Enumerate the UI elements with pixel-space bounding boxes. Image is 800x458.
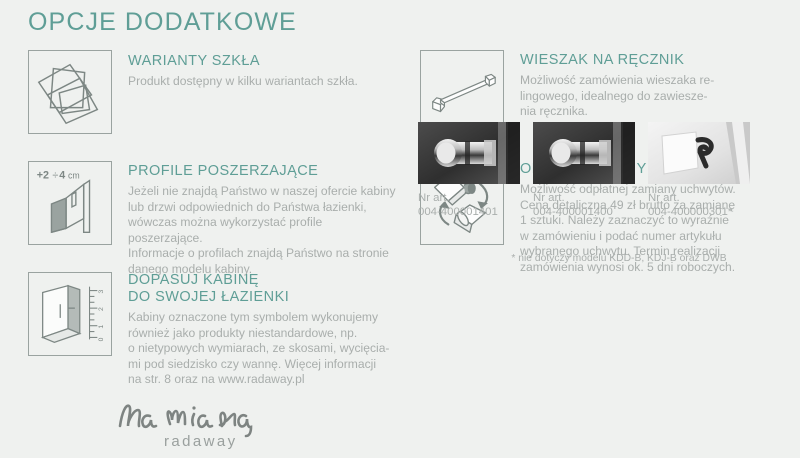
custom-cabin-heading-line1: DOPASUJ KABINĘ [128, 272, 396, 289]
footnote-text: * nie dotyczy modelu KDD-B, KDJ-B oraz D… [418, 253, 790, 264]
widening-profiles-heading: PROFILE POSZERZAJĄCE [128, 163, 396, 180]
feature-glass-variants: WARIANTY SZKŁA Produkt dostępny w kilku … [28, 50, 388, 140]
svg-text:+2: +2 [37, 170, 49, 182]
svg-text:0: 0 [98, 337, 105, 341]
shower-cabin-ruler-icon: 3 2 1 0 [28, 272, 112, 356]
svg-text:1: 1 [98, 325, 105, 329]
svg-text:2: 2 [98, 307, 105, 311]
svg-text:÷: ÷ [52, 170, 58, 182]
svg-text:4: 4 [59, 170, 65, 182]
svg-text:cm: cm [68, 171, 80, 181]
glass-panes-icon [28, 50, 112, 134]
logo-na-miare: radaway [110, 390, 290, 452]
knob-handle-dark-photo[interactable] [533, 122, 635, 184]
product-item[interactable]: Nr art. 004-400001401 [418, 122, 520, 220]
widening-profiles-body: Jeżeli nie znajdą Państwo w naszej oferc… [128, 184, 396, 278]
product-item[interactable]: Nr art. 004-400000301* [648, 122, 750, 220]
svg-text:radaway: radaway [164, 433, 238, 450]
glass-variants-body: Produkt dostępny w kilku wariantach szkł… [128, 74, 388, 90]
product-caption: Nr art. 004-400000301* [648, 191, 750, 220]
towel-rail-body: Możliwość zamówienia wieszaka re- lingow… [520, 73, 788, 120]
product-item[interactable]: Nr art. 004-400001400 [533, 122, 635, 220]
widening-profile-icon: +2 ÷ 4 cm [28, 161, 112, 245]
knob-handle-dark-photo[interactable] [418, 122, 520, 184]
svg-text:3: 3 [98, 290, 105, 294]
feature-widening-profiles: +2 ÷ 4 cm PROFILE POSZERZAJĄCE Jeżeli ni… [28, 161, 388, 256]
towel-rail-text: WIESZAK NA RĘCZNIK Możliwość zamówienia … [520, 52, 788, 120]
custom-cabin-heading-line2: DO SWOJEJ ŁAZIENKI [128, 289, 396, 306]
hook-handle-light-photo[interactable] [648, 122, 750, 184]
page-root: OPCJE DODATKOWE WARIANTY SZKŁA Produkt d… [0, 0, 800, 458]
product-caption: Nr art. 004-400001401 [418, 191, 520, 220]
custom-cabin-body: Kabiny oznaczone tym symbolem wykonujemy… [128, 310, 396, 388]
right-column: WIESZAK NA RĘCZNIK Możliwość zamówienia … [400, 0, 800, 458]
product-caption: Nr art. 004-400001400 [533, 191, 635, 220]
glass-variants-heading: WARIANTY SZKŁA [128, 53, 388, 70]
towel-rail-heading: WIESZAK NA RĘCZNIK [520, 52, 788, 69]
custom-cabin-text: DOPASUJ KABINĘ DO SWOJEJ ŁAZIENKI Kabiny… [128, 272, 396, 388]
feature-custom-cabin: 3 2 1 0 DOPASUJ KABINĘ DO SWOJEJ ŁAZIENK… [28, 272, 388, 382]
glass-variants-text: WARIANTY SZKŁA Produkt dostępny w kilku … [128, 53, 388, 90]
widening-profiles-text: PROFILE POSZERZAJĄCE Jeżeli nie znajdą P… [128, 163, 396, 278]
left-column: WARIANTY SZKŁA Produkt dostępny w kilku … [0, 0, 400, 458]
